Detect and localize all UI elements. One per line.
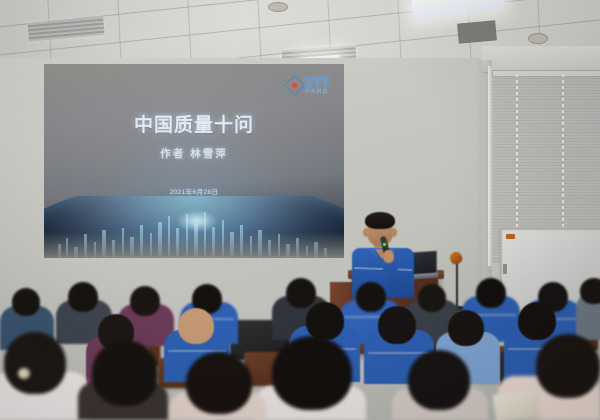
microphone-led-icon [383, 243, 386, 246]
notebook[interactable] [492, 389, 539, 420]
slide-date: 2021年6月28日 [44, 186, 344, 196]
ztt-logo: ZTT 中天科技 [287, 76, 330, 95]
blinds-headrail [492, 70, 600, 77]
hair-scrunchie [18, 368, 30, 379]
slide-skyline-artwork [44, 196, 344, 258]
presenter-hair [365, 212, 395, 229]
slide-title: 中国质量十问 [44, 110, 344, 137]
window-mullion [488, 66, 492, 266]
whiteboard-corner-tag [506, 234, 515, 239]
whiteboard-clip [503, 264, 507, 274]
floor-microphone-stand [456, 262, 458, 310]
slide-author: 作者 林雪萍 [44, 146, 344, 161]
ztt-diamond-icon [284, 75, 305, 96]
logo-chinese-text: 中天科技 [305, 90, 330, 95]
presenter-hand [383, 250, 394, 263]
presentation-photo-scene: ZTT 中天科技 中国质量十问 作者 林雪萍 2021年6月28日 [0, 0, 600, 420]
logo-latin-text: ZTT [305, 76, 330, 89]
projected-slide: ZTT 中天科技 中国质量十问 作者 林雪萍 2021年6月28日 [44, 64, 344, 256]
wall-soffit [482, 46, 600, 73]
